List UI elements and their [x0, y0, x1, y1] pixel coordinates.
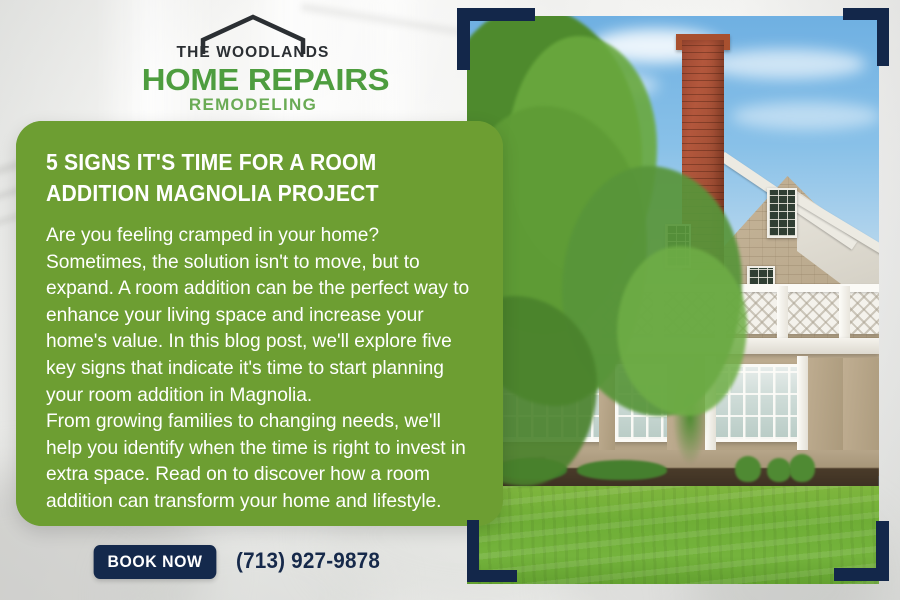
stone-pier	[803, 358, 843, 450]
brand-logo[interactable]: THE WOODLANDS HOME REPAIRS REMODELING	[148, 12, 358, 112]
shrub	[767, 458, 791, 482]
content-panel: 5 Signs It's Time For A Room Addition Ma…	[16, 121, 503, 526]
house-photo	[467, 16, 879, 584]
shrub	[789, 454, 815, 482]
body-text: Are you feeling cramped in your home? So…	[46, 223, 473, 516]
lawn	[467, 486, 879, 584]
upper-window	[767, 188, 797, 238]
white-column	[797, 356, 808, 452]
tree	[617, 246, 747, 416]
brand-tagline: THE WOODLANDS	[148, 44, 358, 62]
phone-number[interactable]: (713) 927-9878	[236, 548, 380, 574]
brand-name: HOME REPAIRS	[142, 62, 365, 98]
lawn-stripes	[467, 486, 879, 584]
shrub	[735, 456, 761, 482]
shrub	[577, 460, 667, 480]
cloud	[706, 49, 866, 79]
stone-pier	[843, 358, 879, 450]
cloud	[731, 102, 879, 130]
book-now-button[interactable]: BOOK NOW	[94, 545, 217, 579]
panel-content: 5 Signs It's Time For A Room Addition Ma…	[16, 121, 503, 526]
rail-post	[777, 286, 788, 338]
page-title: 5 Signs It's Time For A Room Addition Ma…	[46, 147, 430, 209]
rail-post	[839, 286, 850, 338]
house-photo-image	[467, 16, 879, 584]
promotional-poster: THE WOODLANDS HOME REPAIRS REMODELING	[0, 0, 900, 600]
brand-service: REMODELING	[148, 95, 358, 115]
